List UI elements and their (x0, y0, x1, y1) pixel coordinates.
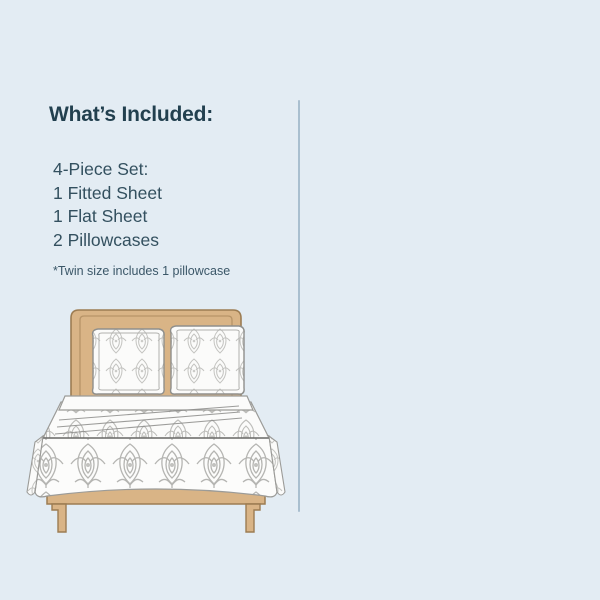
bed-illustration (25, 296, 287, 536)
whats-included-list: 4-Piece Set: 1 Fitted Sheet 1 Flat Sheet… (53, 158, 283, 252)
whats-included-column: What’s Included: 4-Piece Set: 1 Fitted S… (0, 0, 298, 600)
list-item: 1 Flat Sheet (53, 205, 283, 229)
whats-included-heading: What’s Included: (49, 103, 213, 127)
list-item: 4-Piece Set: (53, 158, 283, 182)
twin-size-footnote: *Twin size includes 1 pillowcase (53, 264, 230, 278)
infographic-page: What’s Included: 4-Piece Set: 1 Fitted S… (0, 0, 600, 600)
list-item: 2 Pillowcases (53, 229, 283, 253)
list-item: 1 Fitted Sheet (53, 182, 283, 206)
key-features-column: Key Features Wrinkle Resistant (298, 0, 600, 600)
